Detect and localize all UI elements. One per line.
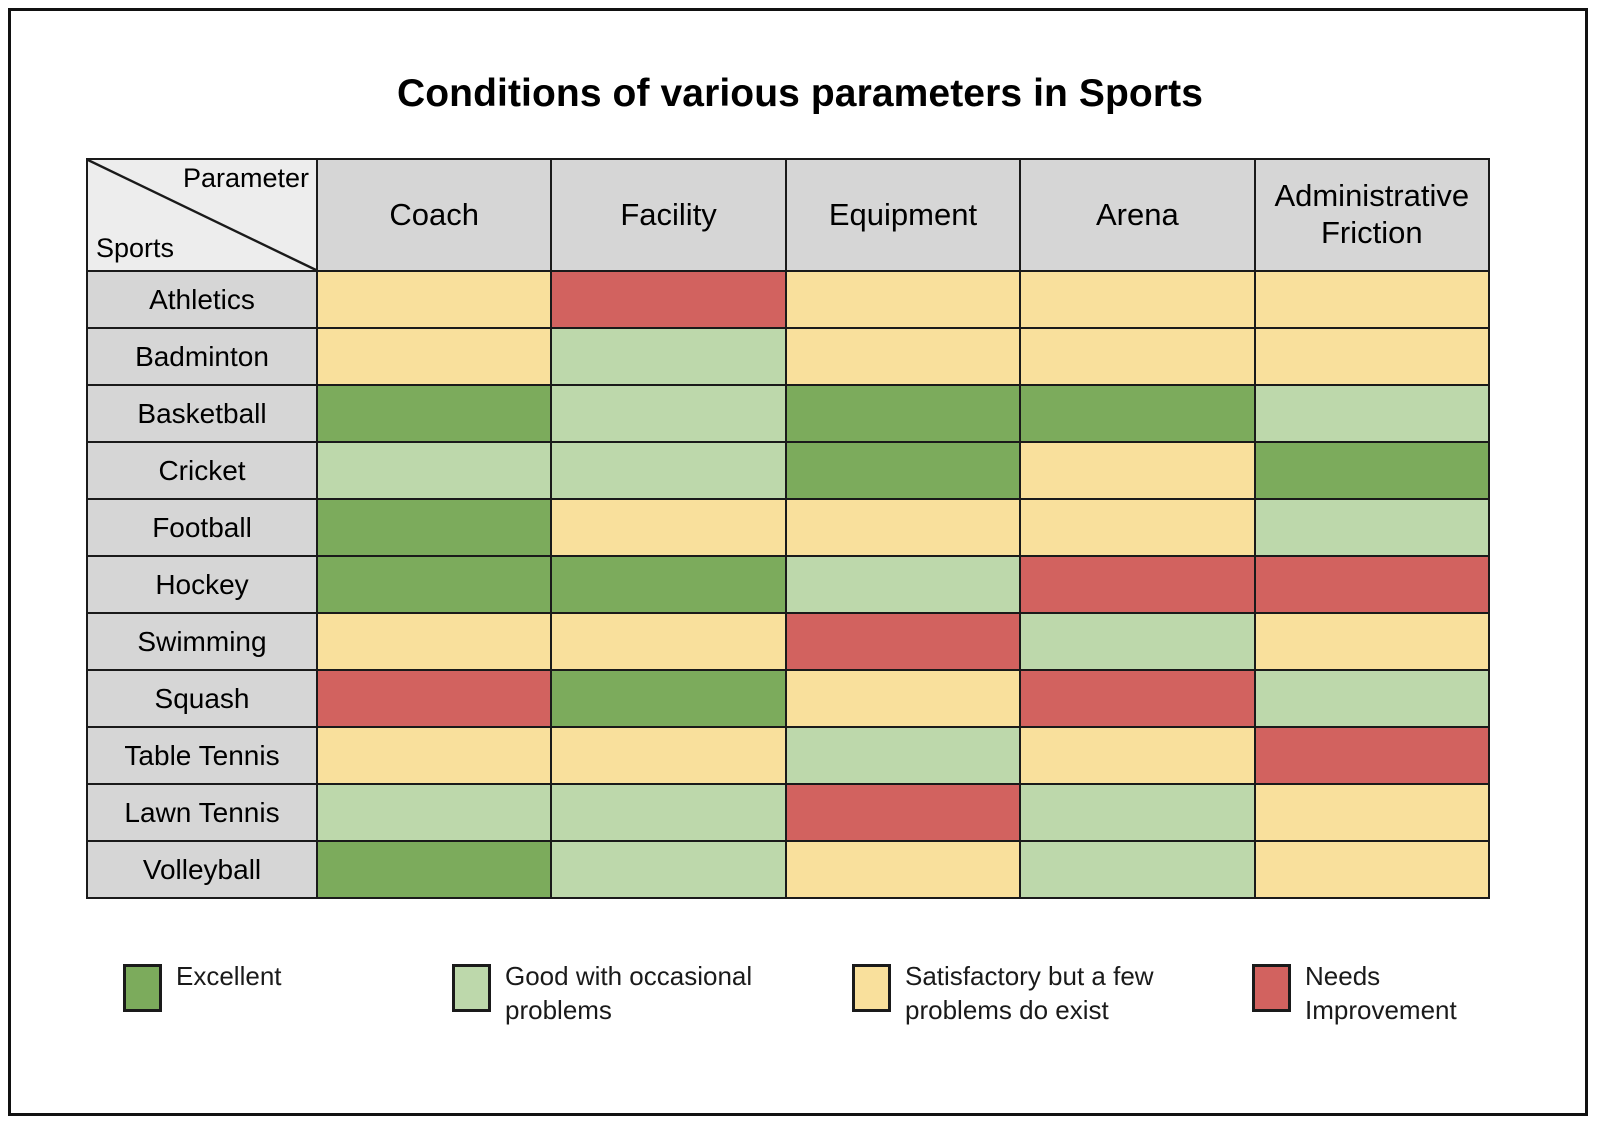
row-header-basketball: Basketball	[87, 385, 317, 442]
matrix-cell[interactable]	[786, 442, 1020, 499]
table-row: Athletics	[87, 271, 1489, 328]
corner-axis-header: Parameter Sports	[87, 159, 317, 271]
table-row: Swimming	[87, 613, 1489, 670]
matrix-cell[interactable]	[317, 613, 551, 670]
legend-label-needs: Needs Improvement	[1305, 960, 1490, 1028]
table-row: Badminton	[87, 328, 1489, 385]
matrix-cell[interactable]	[551, 328, 785, 385]
matrix-cell[interactable]	[551, 385, 785, 442]
row-header-hockey: Hockey	[87, 556, 317, 613]
matrix-cell[interactable]	[786, 727, 1020, 784]
matrix-cell[interactable]	[786, 784, 1020, 841]
matrix-cell[interactable]	[1255, 442, 1489, 499]
matrix-cell[interactable]	[1020, 442, 1254, 499]
table-row: Football	[87, 499, 1489, 556]
table-row: Basketball	[87, 385, 1489, 442]
legend-swatch-satisfactory	[852, 964, 891, 1012]
matrix-cell[interactable]	[1020, 613, 1254, 670]
row-header-lawn-tennis: Lawn Tennis	[87, 784, 317, 841]
matrix-cell[interactable]	[317, 328, 551, 385]
column-header-equipment: Equipment	[786, 159, 1020, 271]
matrix-cell[interactable]	[1020, 499, 1254, 556]
row-header-volleyball: Volleyball	[87, 841, 317, 898]
matrix-cell[interactable]	[1020, 670, 1254, 727]
row-header-football: Football	[87, 499, 317, 556]
row-axis-label: Sports	[96, 234, 174, 264]
matrix-cell[interactable]	[551, 499, 785, 556]
matrix-container: Parameter Sports CoachFacilityEquipmentA…	[86, 158, 1490, 899]
matrix-cell[interactable]	[317, 271, 551, 328]
matrix-cell[interactable]	[317, 670, 551, 727]
matrix-body: AthleticsBadmintonBasketballCricketFootb…	[87, 271, 1489, 898]
matrix-cell[interactable]	[1255, 784, 1489, 841]
matrix-cell[interactable]	[1020, 271, 1254, 328]
matrix-cell[interactable]	[786, 385, 1020, 442]
matrix-cell[interactable]	[1255, 613, 1489, 670]
matrix-cell[interactable]	[1020, 328, 1254, 385]
matrix-cell[interactable]	[1255, 271, 1489, 328]
matrix-cell[interactable]	[317, 727, 551, 784]
page-title: Conditions of various parameters in Spor…	[0, 72, 1600, 116]
page-root: Conditions of various parameters in Spor…	[0, 0, 1600, 1125]
matrix-cell[interactable]	[1020, 727, 1254, 784]
column-header-arena: Arena	[1020, 159, 1254, 271]
matrix-cell[interactable]	[1255, 328, 1489, 385]
legend-label-good: Good with occasional problems	[505, 960, 775, 1028]
row-header-squash: Squash	[87, 670, 317, 727]
column-header-coach: Coach	[317, 159, 551, 271]
matrix-cell[interactable]	[1020, 556, 1254, 613]
legend: ExcellentGood with occasional problemsSa…	[86, 950, 1490, 1060]
matrix-cell[interactable]	[317, 385, 551, 442]
matrix-cell[interactable]	[786, 841, 1020, 898]
legend-item-needs: Needs Improvement	[1252, 950, 1490, 1028]
matrix-cell[interactable]	[1255, 385, 1489, 442]
row-header-table-tennis: Table Tennis	[87, 727, 317, 784]
row-header-badminton: Badminton	[87, 328, 317, 385]
matrix-cell[interactable]	[1020, 385, 1254, 442]
row-header-cricket: Cricket	[87, 442, 317, 499]
table-row: Lawn Tennis	[87, 784, 1489, 841]
table-row: Table Tennis	[87, 727, 1489, 784]
matrix-cell[interactable]	[1255, 670, 1489, 727]
matrix-cell[interactable]	[317, 556, 551, 613]
matrix-cell[interactable]	[1255, 727, 1489, 784]
row-header-athletics: Athletics	[87, 271, 317, 328]
matrix-cell[interactable]	[551, 841, 785, 898]
column-axis-label: Parameter	[183, 164, 309, 194]
matrix-cell[interactable]	[786, 670, 1020, 727]
table-row: Hockey	[87, 556, 1489, 613]
matrix-cell[interactable]	[551, 784, 785, 841]
legend-item-excellent: Excellent	[123, 950, 282, 1012]
matrix-cell[interactable]	[317, 841, 551, 898]
matrix-cell[interactable]	[786, 328, 1020, 385]
matrix-cell[interactable]	[317, 499, 551, 556]
matrix-cell[interactable]	[1255, 499, 1489, 556]
row-header-swimming: Swimming	[87, 613, 317, 670]
matrix-header: Parameter Sports CoachFacilityEquipmentA…	[87, 159, 1489, 271]
matrix-cell[interactable]	[786, 271, 1020, 328]
matrix-cell[interactable]	[551, 556, 785, 613]
legend-swatch-good	[452, 964, 491, 1012]
legend-item-good: Good with occasional problems	[452, 950, 775, 1028]
table-row: Squash	[87, 670, 1489, 727]
header-row: Parameter Sports CoachFacilityEquipmentA…	[87, 159, 1489, 271]
matrix-cell[interactable]	[1020, 784, 1254, 841]
matrix-cell[interactable]	[317, 784, 551, 841]
matrix-cell[interactable]	[551, 442, 785, 499]
legend-swatch-excellent	[123, 964, 162, 1012]
conditions-matrix-table: Parameter Sports CoachFacilityEquipmentA…	[86, 158, 1490, 899]
matrix-cell[interactable]	[551, 727, 785, 784]
column-header-facility: Facility	[551, 159, 785, 271]
legend-label-excellent: Excellent	[176, 960, 282, 994]
legend-label-satisfactory: Satisfactory but a few problems do exist	[905, 960, 1175, 1028]
legend-swatch-needs	[1252, 964, 1291, 1012]
matrix-cell[interactable]	[551, 271, 785, 328]
matrix-cell[interactable]	[551, 613, 785, 670]
matrix-cell[interactable]	[551, 670, 785, 727]
matrix-cell[interactable]	[786, 556, 1020, 613]
matrix-cell[interactable]	[1255, 841, 1489, 898]
matrix-cell[interactable]	[1020, 841, 1254, 898]
table-row: Cricket	[87, 442, 1489, 499]
matrix-cell[interactable]	[317, 442, 551, 499]
matrix-cell[interactable]	[786, 499, 1020, 556]
legend-item-satisfactory: Satisfactory but a few problems do exist	[852, 950, 1175, 1028]
table-row: Volleyball	[87, 841, 1489, 898]
matrix-cell[interactable]	[786, 613, 1020, 670]
column-header-administrative-friction: Administrative Friction	[1255, 159, 1489, 271]
matrix-cell[interactable]	[1255, 556, 1489, 613]
